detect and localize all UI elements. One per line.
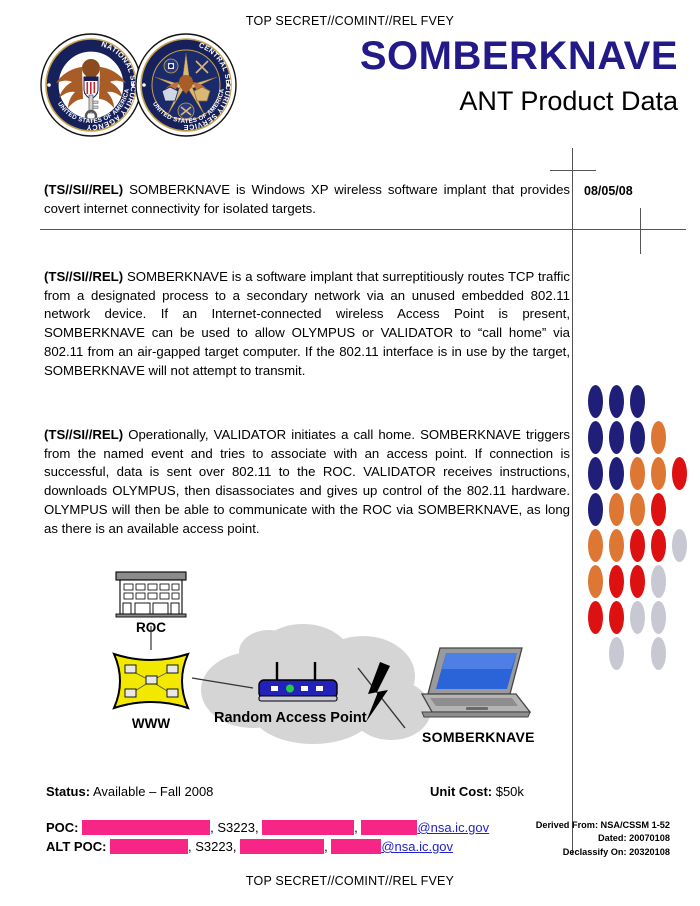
- summary-text: SOMBERKNAVE is Windows XP wireless softw…: [44, 182, 570, 216]
- decorative-ellipse: [672, 457, 687, 490]
- summary-marking: (TS//SI//REL): [44, 182, 123, 197]
- decorative-ellipse: [630, 565, 645, 598]
- decorative-ellipse: [588, 421, 603, 454]
- body-paragraph-1: (TS//SI//REL) SOMBERKNAVE is a software …: [44, 268, 570, 380]
- status-label: Status:: [46, 784, 90, 799]
- lightning-bolt-icon: [358, 660, 418, 740]
- decorative-ellipse: [609, 601, 624, 634]
- decorative-ellipse: [651, 601, 666, 634]
- decorative-ellipse: [651, 457, 666, 490]
- decorative-ellipse: [609, 565, 624, 598]
- poc-row: ALT POC: , S3223, , @nsa.ic.gov: [46, 837, 489, 856]
- paragraph-2-text: Operationally, VALIDATOR initiates a cal…: [44, 427, 570, 536]
- nsa-seal-icon: NATIONAL SECURITY AGENCY UNITED STATES O…: [40, 33, 142, 137]
- decorative-ellipse: [651, 565, 666, 598]
- decorative-ellipse: [651, 421, 666, 454]
- redaction-bar: [331, 839, 381, 854]
- unit-cost-label: Unit Cost:: [430, 784, 492, 799]
- vertical-divider: [572, 148, 573, 854]
- page-subtitle: ANT Product Data: [459, 88, 678, 115]
- poc-block: POC: , S3223, , @nsa.ic.govALT POC: , S3…: [46, 818, 489, 856]
- poc-text: , S3223,: [188, 840, 240, 853]
- poc-text: ,: [324, 840, 331, 853]
- decorative-ellipse: [630, 601, 645, 634]
- target-label: SOMBERKNAVE: [422, 729, 535, 745]
- decorative-ellipse: [651, 637, 666, 670]
- document-page: TOP SECRET//COMINT//REL FVEY: [0, 0, 700, 906]
- decorative-ellipse: [651, 493, 666, 526]
- decorative-ellipse: [588, 493, 603, 526]
- redaction-bar: [240, 839, 324, 854]
- paragraph-1-text: SOMBERKNAVE is a software implant that s…: [44, 269, 570, 378]
- decorative-ellipse: [630, 421, 645, 454]
- decorative-ellipse: [651, 529, 666, 562]
- poc-row: POC: , S3223, , @nsa.ic.gov: [46, 818, 489, 837]
- unit-cost-line: Unit Cost: $50k: [430, 784, 524, 799]
- page-title: SOMBERKNAVE: [360, 36, 678, 76]
- office-building-icon: [108, 568, 194, 618]
- decorative-ellipse: [588, 601, 603, 634]
- unit-cost-value: $50k: [492, 784, 524, 799]
- network-diagram: ROC WWW: [40, 560, 570, 760]
- decorative-ellipse: [609, 457, 624, 490]
- paragraph-1-marking: (TS//SI//REL): [44, 269, 123, 284]
- document-date: 08/05/08: [584, 184, 633, 198]
- decorative-ellipse: [630, 529, 645, 562]
- poc-email-domain[interactable]: @nsa.ic.gov: [417, 821, 489, 834]
- horizontal-divider: [40, 229, 660, 230]
- css-seal-icon: CENTRAL SECURITY SERVICE UNITED STATES O…: [135, 33, 237, 137]
- www-label: WWW: [104, 716, 198, 731]
- redaction-bar: [110, 839, 188, 854]
- decorative-ellipse: [672, 529, 687, 562]
- decorative-ellipse: [630, 493, 645, 526]
- decorative-ellipse: [609, 493, 624, 526]
- poc-label: POC:: [46, 821, 82, 834]
- decorative-ellipse: [588, 565, 603, 598]
- registration-mark-top-cross: [550, 170, 596, 171]
- wireless-router-icon: [253, 656, 343, 712]
- decorative-ellipse: [588, 529, 603, 562]
- poc-text: ,: [354, 821, 361, 834]
- classification-banner-bottom: TOP SECRET//COMINT//REL FVEY: [0, 874, 700, 888]
- decorative-ellipse: [630, 457, 645, 490]
- body-paragraph-2: (TS//SI//REL) Operationally, VALIDATOR i…: [44, 426, 570, 538]
- status-value: Available – Fall 2008: [90, 784, 213, 799]
- www-network-icon: [104, 648, 198, 714]
- decorative-ellipse-grid: [588, 385, 692, 670]
- derived-from: Derived From: NSA/CSSM 1-52: [490, 819, 670, 832]
- registration-mark-right-cross: [640, 208, 641, 254]
- decorative-ellipse: [588, 385, 603, 418]
- summary-paragraph: (TS//SI//REL) SOMBERKNAVE is Windows XP …: [44, 181, 570, 218]
- decorative-ellipse: [630, 385, 645, 418]
- paragraph-2-marking: (TS//SI//REL): [44, 427, 123, 442]
- poc-text: , S3223,: [210, 821, 262, 834]
- roc-label: ROC: [108, 620, 194, 635]
- decorative-ellipse: [609, 637, 624, 670]
- redaction-bar: [361, 820, 417, 835]
- dated: Dated: 20070108: [490, 832, 670, 845]
- poc-email-domain[interactable]: @nsa.ic.gov: [381, 840, 453, 853]
- roc-node: ROC: [108, 568, 194, 635]
- agency-seals: NATIONAL SECURITY AGENCY UNITED STATES O…: [40, 33, 285, 138]
- decorative-ellipse: [609, 529, 624, 562]
- declassify-on: Declassify On: 20320108: [490, 846, 670, 859]
- redaction-bar: [262, 820, 354, 835]
- decorative-ellipse: [609, 421, 624, 454]
- poc-label: ALT POC:: [46, 840, 110, 853]
- redaction-bar: [82, 820, 210, 835]
- classification-banner-top: TOP SECRET//COMINT//REL FVEY: [0, 14, 700, 28]
- classification-derivation: Derived From: NSA/CSSM 1-52 Dated: 20070…: [490, 819, 670, 859]
- decorative-ellipse: [588, 457, 603, 490]
- decorative-ellipse: [609, 385, 624, 418]
- laptop-icon: [418, 642, 536, 724]
- access-point-label: Random Access Point: [214, 710, 367, 726]
- www-node: WWW: [104, 648, 198, 731]
- status-line: Status: Available – Fall 2008: [46, 784, 213, 799]
